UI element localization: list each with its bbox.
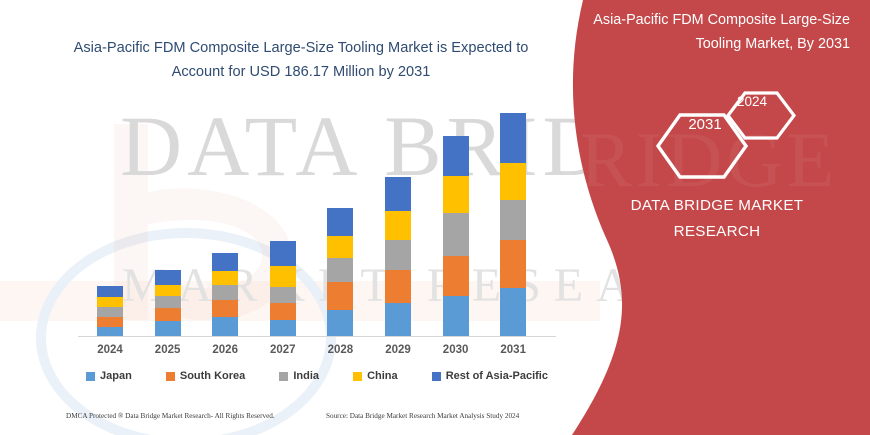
bar-segment-china	[155, 285, 181, 296]
bar-segment-china	[385, 211, 411, 240]
bar-2029[interactable]	[385, 177, 411, 336]
bar-segment-rest-of-asia-pacific	[443, 136, 469, 176]
bar-segment-india	[443, 213, 469, 256]
legend-item-india[interactable]: India	[279, 370, 319, 382]
x-axis-label-2031: 2031	[485, 344, 541, 356]
bar-2031[interactable]	[500, 113, 526, 336]
bar-segment-rest-of-asia-pacific	[270, 241, 296, 266]
legend-item-japan[interactable]: Japan	[86, 370, 132, 382]
x-axis-line	[78, 336, 556, 337]
bar-group	[0, 0, 600, 336]
bar-segment-japan	[327, 310, 353, 336]
bar-segment-south-korea	[385, 270, 411, 303]
legend-label: Rest of Asia-Pacific	[446, 370, 548, 382]
legend-label: Japan	[100, 370, 132, 382]
bar-segment-china	[97, 297, 123, 307]
bar-segment-japan	[97, 327, 123, 336]
bar-segment-india	[327, 258, 353, 282]
bar-segment-south-korea	[155, 308, 181, 321]
bar-segment-japan	[443, 296, 469, 336]
bar-2026[interactable]	[212, 253, 238, 336]
bar-segment-india	[500, 200, 526, 240]
bar-segment-rest-of-asia-pacific	[385, 177, 411, 211]
bar-2025[interactable]	[155, 270, 181, 336]
bar-segment-china	[443, 176, 469, 213]
bar-segment-rest-of-asia-pacific	[155, 270, 181, 285]
legend-swatch-icon	[166, 372, 175, 381]
x-axis-label-2024: 2024	[82, 344, 138, 356]
bar-segment-south-korea	[327, 282, 353, 310]
legend-label: India	[293, 370, 319, 382]
chart-plot-area: 20242025202620272028202920302031	[0, 0, 600, 345]
legend-swatch-icon	[432, 372, 441, 381]
bar-segment-china	[327, 236, 353, 258]
x-axis-label-2027: 2027	[255, 344, 311, 356]
legend-swatch-icon	[86, 372, 95, 381]
bar-segment-south-korea	[212, 300, 238, 317]
bar-segment-india	[385, 240, 411, 270]
footer-copyright: DMCA Protected ® Data Bridge Market Rese…	[66, 412, 275, 420]
bar-segment-japan	[155, 321, 181, 336]
bar-2030[interactable]	[443, 136, 469, 336]
hexagon-2024-label: 2024	[726, 94, 778, 109]
bar-segment-south-korea	[500, 240, 526, 288]
hexagon-2031-label: 2031	[674, 116, 736, 133]
legend-label: China	[367, 370, 398, 382]
bar-segment-rest-of-asia-pacific	[327, 208, 353, 236]
bar-segment-india	[97, 307, 123, 317]
bar-segment-south-korea	[270, 303, 296, 320]
x-axis-label-2030: 2030	[428, 344, 484, 356]
bar-2028[interactable]	[327, 208, 353, 336]
bar-segment-japan	[385, 303, 411, 336]
panel-title: Asia-Pacific FDM Composite Large-Size To…	[588, 8, 850, 56]
footer: DMCA Protected ® Data Bridge Market Rese…	[0, 410, 600, 435]
bar-segment-india	[270, 287, 296, 303]
footer-source: Source: Data Bridge Market Research Mark…	[326, 412, 519, 420]
bar-segment-japan	[270, 320, 296, 336]
legend-swatch-icon	[353, 372, 362, 381]
panel-brand-line2: RESEARCH	[674, 223, 761, 240]
bar-segment-india	[155, 296, 181, 308]
bar-segment-south-korea	[443, 256, 469, 296]
bar-segment-china	[270, 266, 296, 287]
legend-item-china[interactable]: China	[353, 370, 398, 382]
bar-segment-japan	[212, 317, 238, 336]
panel-brand: DATA BRIDGE MARKET RESEARCH	[586, 193, 848, 245]
bar-segment-rest-of-asia-pacific	[97, 286, 123, 297]
chart-legend: JapanSouth KoreaIndiaChinaRest of Asia-P…	[86, 370, 548, 382]
bar-segment-south-korea	[97, 317, 123, 327]
bar-segment-china	[500, 163, 526, 200]
bar-segment-rest-of-asia-pacific	[212, 253, 238, 271]
x-axis-label-2028: 2028	[312, 344, 368, 356]
legend-swatch-icon	[279, 372, 288, 381]
legend-item-rest-of-asia-pacific[interactable]: Rest of Asia-Pacific	[432, 370, 548, 382]
bar-2024[interactable]	[97, 286, 123, 336]
bar-segment-china	[212, 271, 238, 285]
x-axis-label-2025: 2025	[140, 344, 196, 356]
bar-2027[interactable]	[270, 241, 296, 336]
right-red-panel: BRIDGE Asia-Pacific FDM Composite Large-…	[560, 0, 870, 435]
legend-label: South Korea	[180, 370, 245, 382]
infographic-root: DATA BRIDGE MARKET RESEARCH Asia-Pacific…	[0, 0, 870, 435]
bar-segment-japan	[500, 288, 526, 336]
panel-brand-line1: DATA BRIDGE MARKET	[631, 197, 804, 214]
legend-item-south-korea[interactable]: South Korea	[166, 370, 245, 382]
x-axis-label-2026: 2026	[197, 344, 253, 356]
bar-segment-rest-of-asia-pacific	[500, 113, 526, 163]
x-axis-label-2029: 2029	[370, 344, 426, 356]
bar-segment-india	[212, 285, 238, 300]
hexagon-group: 2031 2024	[646, 86, 856, 181]
